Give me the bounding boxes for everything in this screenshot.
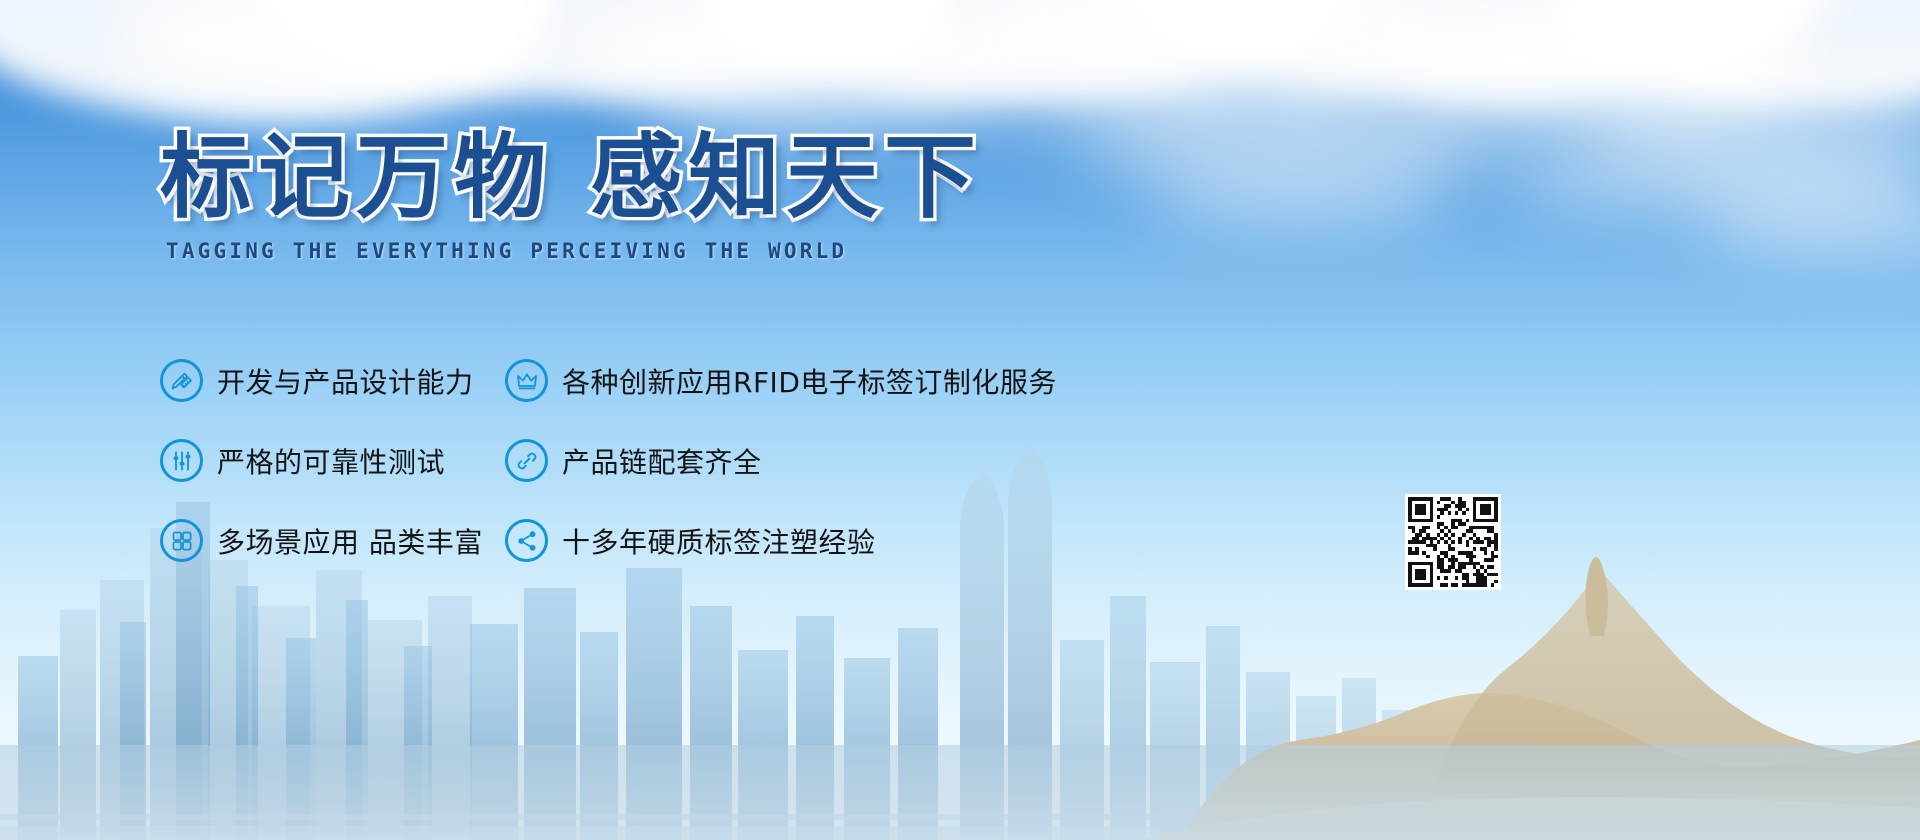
page-title: 标记万物 感知天下 [160,128,1160,227]
equalizer-icon [160,439,203,482]
waterfront-band [0,745,1920,840]
qr-code-matrix [1408,497,1498,587]
feature-item-design-capability[interactable]: 开发与产品设计能力 [160,348,505,413]
feature-list: 开发与产品设计能力 各种创新应用RFID电子标签订制化服务 [160,348,1057,573]
crown-icon [505,359,548,402]
feature-label: 多场景应用 品类丰富 [217,521,483,561]
promo-banner: 标记万物 感知天下 TAGGING THE EVERYTHING PERCEIV… [0,0,1920,840]
feature-item-rfid-customization[interactable]: 各种创新应用RFID电子标签订制化服务 [505,348,1057,413]
chain-link-icon [505,439,548,482]
feature-label: 开发与产品设计能力 [217,361,474,401]
headline-block: 标记万物 感知天下 TAGGING THE EVERYTHING PERCEIV… [160,128,1160,263]
feature-label: 各种创新应用RFID电子标签订制化服务 [562,361,1057,401]
qr-code[interactable] [1405,494,1501,590]
feature-item-multi-scenario[interactable]: 多场景应用 品类丰富 [160,508,505,573]
feature-item-molding-experience[interactable]: 十多年硬质标签注塑经验 [505,508,1057,573]
feature-label: 十多年硬质标签注塑经验 [562,521,876,561]
feature-label: 产品链配套齐全 [562,441,762,481]
feature-label: 严格的可靠性测试 [217,441,445,481]
ruler-pencil-icon [160,359,203,402]
feature-item-reliability-testing[interactable]: 严格的可靠性测试 [160,428,505,493]
feature-item-supply-chain[interactable]: 产品链配套齐全 [505,428,1057,493]
grid-squares-icon [160,519,203,562]
share-network-icon [505,519,548,562]
page-subtitle: TAGGING THE EVERYTHING PERCEIVING THE WO… [166,239,1160,263]
